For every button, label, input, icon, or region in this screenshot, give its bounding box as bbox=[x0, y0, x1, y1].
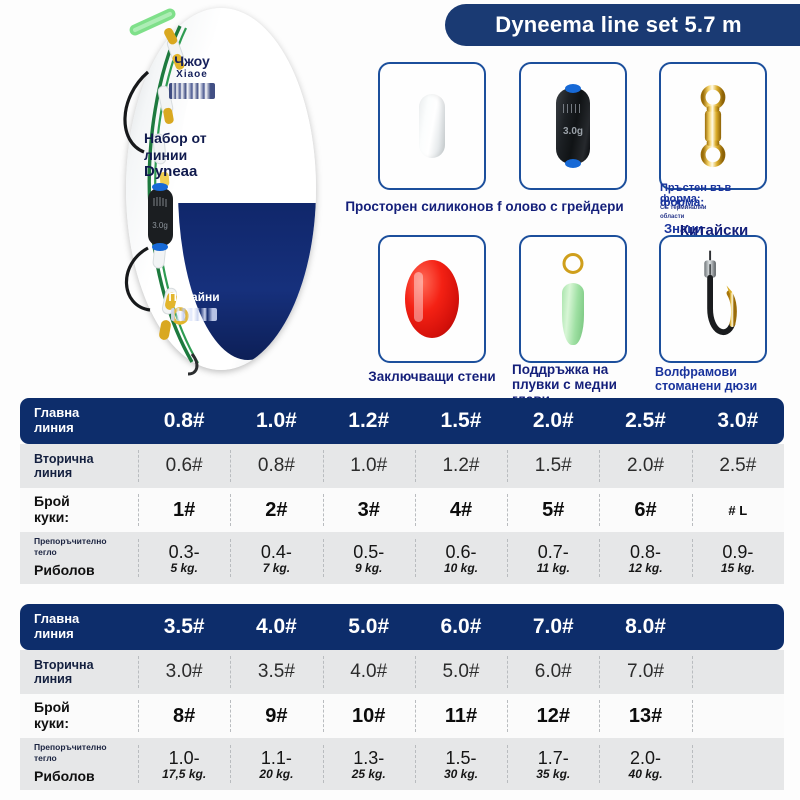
table-1-r0-c0: 0.8# bbox=[138, 398, 230, 444]
table-1-r0-c4: 2.0# bbox=[507, 398, 599, 444]
spec-table-2: Главна линия 3.5# 4.0# 5.0# 6.0# 7.0# 8.… bbox=[20, 604, 784, 790]
table-1-r3-c0: 0.3-5 kg. bbox=[138, 532, 230, 584]
table-2-r3-c6 bbox=[692, 738, 784, 790]
table-2-r2-c0: 8# bbox=[138, 694, 230, 738]
caption-red-float: Заключващи стени bbox=[344, 369, 520, 384]
table-2-r0-c5: 8.0# bbox=[599, 604, 691, 650]
table-2-r2-c6 bbox=[692, 694, 784, 738]
table-1-r2-c2: 3# bbox=[323, 488, 415, 532]
table-2-r3-c2: 1.3-25 kg. bbox=[323, 738, 415, 790]
table-2-r0-c1: 4.0# bbox=[230, 604, 322, 650]
caption-swivel-line3: области bbox=[660, 214, 768, 221]
table-2-secondary-line-row: Вторична линия 3.0# 3.5# 4.0# 5.0# 6.0# … bbox=[20, 650, 784, 694]
table-1-r2-c6: # L bbox=[692, 488, 784, 532]
spec-table-1: Главна линия 0.8# 1.0# 1.2# 1.5# 2.0# 2.… bbox=[20, 398, 784, 584]
spool-brand-name: Чжоу bbox=[174, 53, 210, 69]
header-banner: Dyneema line set 5.7 m bbox=[445, 4, 800, 46]
table-1-r1-c5: 2.0# bbox=[599, 444, 691, 488]
table-2-r1-c2: 4.0# bbox=[323, 650, 415, 694]
table-1-r0-c2: 1.2# bbox=[323, 398, 415, 444]
component-box-lead-sinker[interactable]: 3.0g bbox=[519, 62, 627, 190]
spool-brand-sub: Xiaoe bbox=[146, 70, 238, 81]
table-2-r1-c4: 6.0# bbox=[507, 650, 599, 694]
green-float-drop-icon bbox=[558, 253, 588, 345]
table-2-r3-c5: 2.0-40 kg. bbox=[599, 738, 691, 790]
brand-logo-mark-white bbox=[171, 308, 217, 321]
brand-logo-mark bbox=[169, 83, 215, 99]
page-title: Dyneema line set 5.7 m bbox=[495, 12, 742, 38]
spool-title-line2: линии bbox=[144, 147, 244, 164]
table-2-row-label-secondary-line: Вторична линия bbox=[20, 650, 138, 694]
table-2-r3-c0: 1.0-17,5 kg. bbox=[138, 738, 230, 790]
silicone-bead-icon bbox=[419, 94, 445, 158]
caption-row1-main: Просторен силиконов f олово с грейдери bbox=[312, 199, 657, 214]
spool-title-line3: Dyneaa bbox=[144, 163, 244, 181]
table-2-r3-c3: 1.5-30 kg. bbox=[415, 738, 507, 790]
product-spool-image: 3.0g Чжоу Xiaoe Набор от линии Dyneaa Пе… bbox=[88, 2, 348, 380]
table-1-r1-c0: 0.6# bbox=[138, 444, 230, 488]
table-1-r3-c6: 0.9-15 kg. bbox=[692, 532, 784, 584]
table-1-r0-c5: 2.5# bbox=[599, 398, 691, 444]
table-2-r1-c3: 5.0# bbox=[415, 650, 507, 694]
table-1-row-label-main-line: Главна линия bbox=[20, 398, 138, 444]
table-1-r2-c3: 4# bbox=[415, 488, 507, 532]
component-box-swivel[interactable] bbox=[659, 62, 767, 190]
sinker-top-cap bbox=[565, 84, 581, 93]
table-1-r2-c5: 6# bbox=[599, 488, 691, 532]
table-1-row-label-recommended-weight: Препоръчително тегло Риболов bbox=[20, 532, 138, 584]
table-2-r2-c3: 11# bbox=[415, 694, 507, 738]
table-2-hook-count-row: Брой куки: 8# 9# 10# 11# 12# 13# bbox=[20, 694, 784, 738]
table-1-r0-c3: 1.5# bbox=[415, 398, 507, 444]
table-2-recommended-weight-row: Препоръчително тегло Риболов 1.0-17,5 kg… bbox=[20, 738, 784, 790]
table-1-r1-c3: 1.2# bbox=[415, 444, 507, 488]
table-1-r2-c0: 1# bbox=[138, 488, 230, 532]
table-2-header-row: Главна линия 3.5# 4.0# 5.0# 6.0# 7.0# 8.… bbox=[20, 604, 784, 650]
component-box-silicone-bead[interactable] bbox=[378, 62, 486, 190]
table-1-r3-c3: 0.6-10 kg. bbox=[415, 532, 507, 584]
component-box-hook[interactable] bbox=[659, 235, 767, 363]
spool-brand-label: Чжоу Xiaoe bbox=[146, 54, 238, 99]
table-2-r1-c6 bbox=[692, 650, 784, 694]
sinker-ribs bbox=[563, 104, 583, 113]
table-2-r0-c6 bbox=[692, 604, 784, 650]
table-1-row-label-hook-count: Брой куки: bbox=[20, 488, 138, 532]
spool-title-line1: Набор от bbox=[144, 130, 244, 147]
red-float-icon bbox=[405, 260, 459, 338]
caption-hook-head: Китайски bbox=[660, 223, 768, 240]
table-2-r0-c4: 7.0# bbox=[507, 604, 599, 650]
swivel-ring-icon bbox=[695, 83, 731, 169]
caption-hook: Волфрамови стоманени дюзи bbox=[655, 365, 787, 393]
table-2-r2-c2: 10# bbox=[323, 694, 415, 738]
caption-green-float-l1: Поддръжка на bbox=[512, 362, 636, 377]
fishing-hook-icon bbox=[684, 250, 742, 348]
table-2-r0-c2: 5.0# bbox=[323, 604, 415, 650]
table-2-row-label-recommended-weight: Препоръчително тегло Риболов bbox=[20, 738, 138, 790]
table-2-r0-c0: 3.5# bbox=[138, 604, 230, 650]
table-1-r3-c5: 0.8-12 kg. bbox=[599, 532, 691, 584]
table-1-r1-c1: 0.8# bbox=[230, 444, 322, 488]
svg-text:3.0g: 3.0g bbox=[152, 221, 168, 230]
caption-hook-l2: стоманени дюзи bbox=[655, 379, 787, 393]
table-1-secondary-line-row: Вторична линия 0.6# 0.8# 1.0# 1.2# 1.5# … bbox=[20, 444, 784, 488]
spool-title-label: Набор от линии Dyneaa bbox=[144, 130, 244, 181]
table-2-r0-c3: 6.0# bbox=[415, 604, 507, 650]
table-2-row-label-main-line: Главна линия bbox=[20, 604, 138, 650]
table-1-hook-count-row: Брой куки: 1# 2# 3# 4# 5# 6# # L bbox=[20, 488, 784, 532]
table-2-r1-c5: 7.0# bbox=[599, 650, 691, 694]
table-2-row-label-hook-count: Брой куки: bbox=[20, 694, 138, 738]
lead-sinker-icon: 3.0g bbox=[556, 88, 590, 164]
float-brass-neck bbox=[567, 267, 579, 284]
table-1-r0-c6: 3.0# bbox=[692, 398, 784, 444]
table-2-r3-c4: 1.7-35 kg. bbox=[507, 738, 599, 790]
table-1-r1-c2: 1.0# bbox=[323, 444, 415, 488]
spool-bottom-label: Перайни bbox=[150, 290, 238, 321]
table-2-r2-c4: 12# bbox=[507, 694, 599, 738]
table-1-r2-c4: 5# bbox=[507, 488, 599, 532]
table-2-r2-c1: 9# bbox=[230, 694, 322, 738]
caption-swivel-line2: Съ терминални bbox=[660, 205, 768, 212]
table-1-r1-c4: 1.5# bbox=[507, 444, 599, 488]
component-box-green-float[interactable] bbox=[519, 235, 627, 363]
table-1-r3-c4: 0.7-11 kg. bbox=[507, 532, 599, 584]
table-2-r1-c1: 3.5# bbox=[230, 650, 322, 694]
spool-bottom-text: Перайни bbox=[168, 290, 219, 304]
float-body bbox=[562, 283, 584, 345]
sinker-bottom-cap bbox=[565, 159, 581, 168]
table-1-header-row: Главна линия 0.8# 1.0# 1.2# 1.5# 2.0# 2.… bbox=[20, 398, 784, 444]
table-1-r2-c1: 2# bbox=[230, 488, 322, 532]
caption-hook-l1: Волфрамови bbox=[655, 365, 787, 379]
component-box-red-float[interactable] bbox=[378, 235, 486, 363]
sinker-weight-label: 3.0g bbox=[556, 126, 590, 137]
table-1-r3-c1: 0.4-7 kg. bbox=[230, 532, 322, 584]
table-1-r1-c6: 2.5# bbox=[692, 444, 784, 488]
table-1-recommended-weight-row: Препоръчително тегло Риболов 0.3-5 kg. 0… bbox=[20, 532, 784, 584]
table-2-r1-c0: 3.0# bbox=[138, 650, 230, 694]
table-1-row-label-secondary-line: Вторична линия bbox=[20, 444, 138, 488]
table-2-r2-c5: 13# bbox=[599, 694, 691, 738]
table-1-r0-c1: 1.0# bbox=[230, 398, 322, 444]
table-1-r3-c2: 0.5-9 kg. bbox=[323, 532, 415, 584]
table-2-r3-c1: 1.1-20 kg. bbox=[230, 738, 322, 790]
